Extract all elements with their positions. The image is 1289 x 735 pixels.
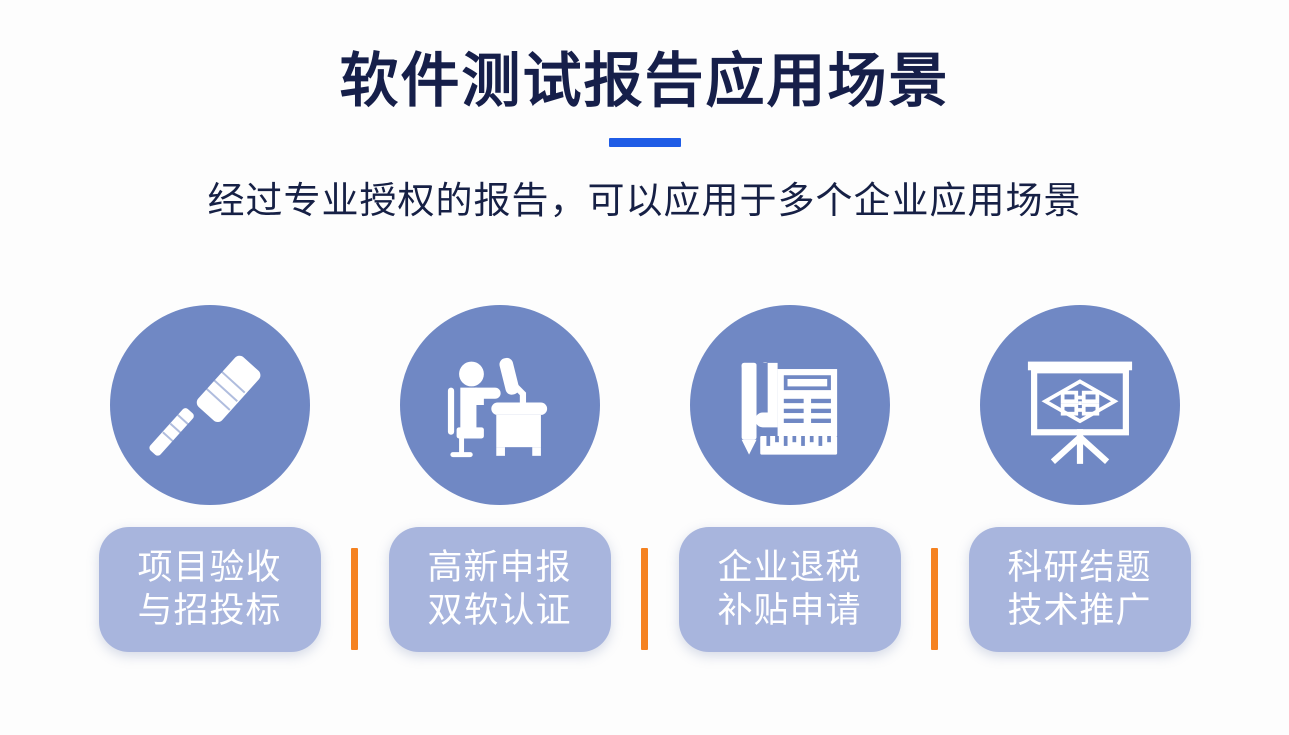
blueprint-pencil-ruler-icon — [728, 343, 852, 467]
scenario-item-research-promotion[interactable]: 科研结题 技术推广 — [965, 305, 1195, 652]
scenario-label-line-1: 高新申报 — [427, 547, 571, 590]
title-divider-wrapper — [0, 138, 1289, 147]
scenario-label-line-2: 与招投标 — [137, 590, 281, 633]
scenario-label-line-1: 科研结题 — [1007, 547, 1151, 590]
separator-slot — [905, 305, 965, 652]
scenario-list: 项目验收 与招投标 — [0, 305, 1289, 652]
scenario-label-card[interactable]: 科研结题 技术推广 — [969, 527, 1191, 652]
page-title: 软件测试报告应用场景 — [0, 48, 1289, 116]
presentation-board-icon — [1018, 343, 1142, 467]
scenario-label-line-1: 项目验收 — [137, 547, 281, 590]
scenario-icon-circle — [980, 305, 1180, 505]
scenario-separator — [351, 548, 358, 650]
scenario-item-tax-refund[interactable]: 企业退税 补贴申请 — [675, 305, 905, 652]
page-subtitle: 经过专业授权的报告，可以应用于多个企业应用场景 — [0, 177, 1289, 225]
person-at-desk-icon — [438, 343, 562, 467]
scenario-label-line-2: 补贴申请 — [717, 590, 861, 633]
scenario-label-card[interactable]: 项目验收 与招投标 — [99, 527, 321, 652]
scenario-label-card[interactable]: 高新申报 双软认证 — [389, 527, 611, 652]
scenario-icon-circle — [400, 305, 600, 505]
scenario-label-line-1: 企业退税 — [717, 547, 861, 590]
separator-slot — [615, 305, 675, 652]
scenario-item-project-acceptance[interactable]: 项目验收 与招投标 — [95, 305, 325, 652]
separator-slot — [325, 305, 385, 652]
scenario-separator — [641, 548, 648, 650]
scenario-icon-circle — [110, 305, 310, 505]
scenario-item-hightech-declaration[interactable]: 高新申报 双软认证 — [385, 305, 615, 652]
title-divider — [609, 138, 681, 147]
gavel-icon — [148, 343, 272, 467]
scenario-label-line-2: 双软认证 — [427, 590, 571, 633]
scenario-label-card[interactable]: 企业退税 补贴申请 — [679, 527, 901, 652]
scenario-label-line-2: 技术推广 — [1007, 590, 1151, 633]
page-header: 软件测试报告应用场景 经过专业授权的报告，可以应用于多个企业应用场景 — [0, 0, 1289, 225]
scenario-icon-circle — [690, 305, 890, 505]
scenario-separator — [931, 548, 938, 650]
